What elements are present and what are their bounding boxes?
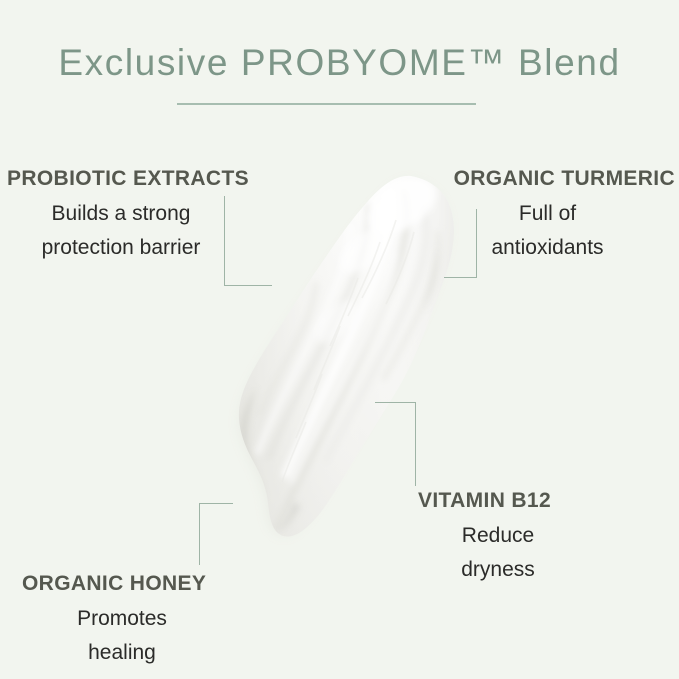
callout-body-line: antioxidants [420,231,675,265]
leader-line-vitamin-vertical [415,402,416,486]
callout-body-line: Builds a strong [7,197,235,231]
leader-line-vitamin-horizontal [375,402,416,403]
callout-body-vitamin: Reduce dryness [418,519,578,587]
callout-probiotic-extracts: PROBIOTIC EXTRACTS Builds a strong prote… [7,167,257,265]
callout-organic-turmeric: ORGANIC TURMERIC Full of antioxidants [420,167,675,265]
callout-body-probiotic: Builds a strong protection barrier [7,197,235,265]
callout-vitamin-b12: VITAMIN B12 Reduce dryness [418,489,648,587]
leader-line-honey-horizontal [199,503,233,504]
ingredient-infographic: Exclusive PROBYOME™ Blend [0,0,679,679]
callout-body-line: Full of [420,197,675,231]
callout-heading-probiotic: PROBIOTIC EXTRACTS [7,167,257,191]
callout-body-turmeric: Full of antioxidants [420,197,675,265]
leader-line-honey-vertical [199,503,200,565]
leader-line-probiotic-horizontal [224,285,272,286]
callout-body-line: healing [22,636,222,670]
callout-body-line: protection barrier [7,231,235,265]
leader-line-turmeric-horizontal [444,277,477,278]
callout-body-honey: Promotes healing [22,602,222,670]
callout-heading-vitamin: VITAMIN B12 [418,489,648,513]
callout-organic-honey: ORGANIC HONEY Promotes healing [22,572,252,670]
title-divider [177,103,476,105]
callout-heading-turmeric: ORGANIC TURMERIC [420,167,675,191]
callout-body-line: Promotes [22,602,222,636]
callout-body-line: dryness [418,553,578,587]
callout-body-line: Reduce [418,519,578,553]
page-title: Exclusive PROBYOME™ Blend [0,42,679,84]
callout-heading-honey: ORGANIC HONEY [22,572,252,596]
